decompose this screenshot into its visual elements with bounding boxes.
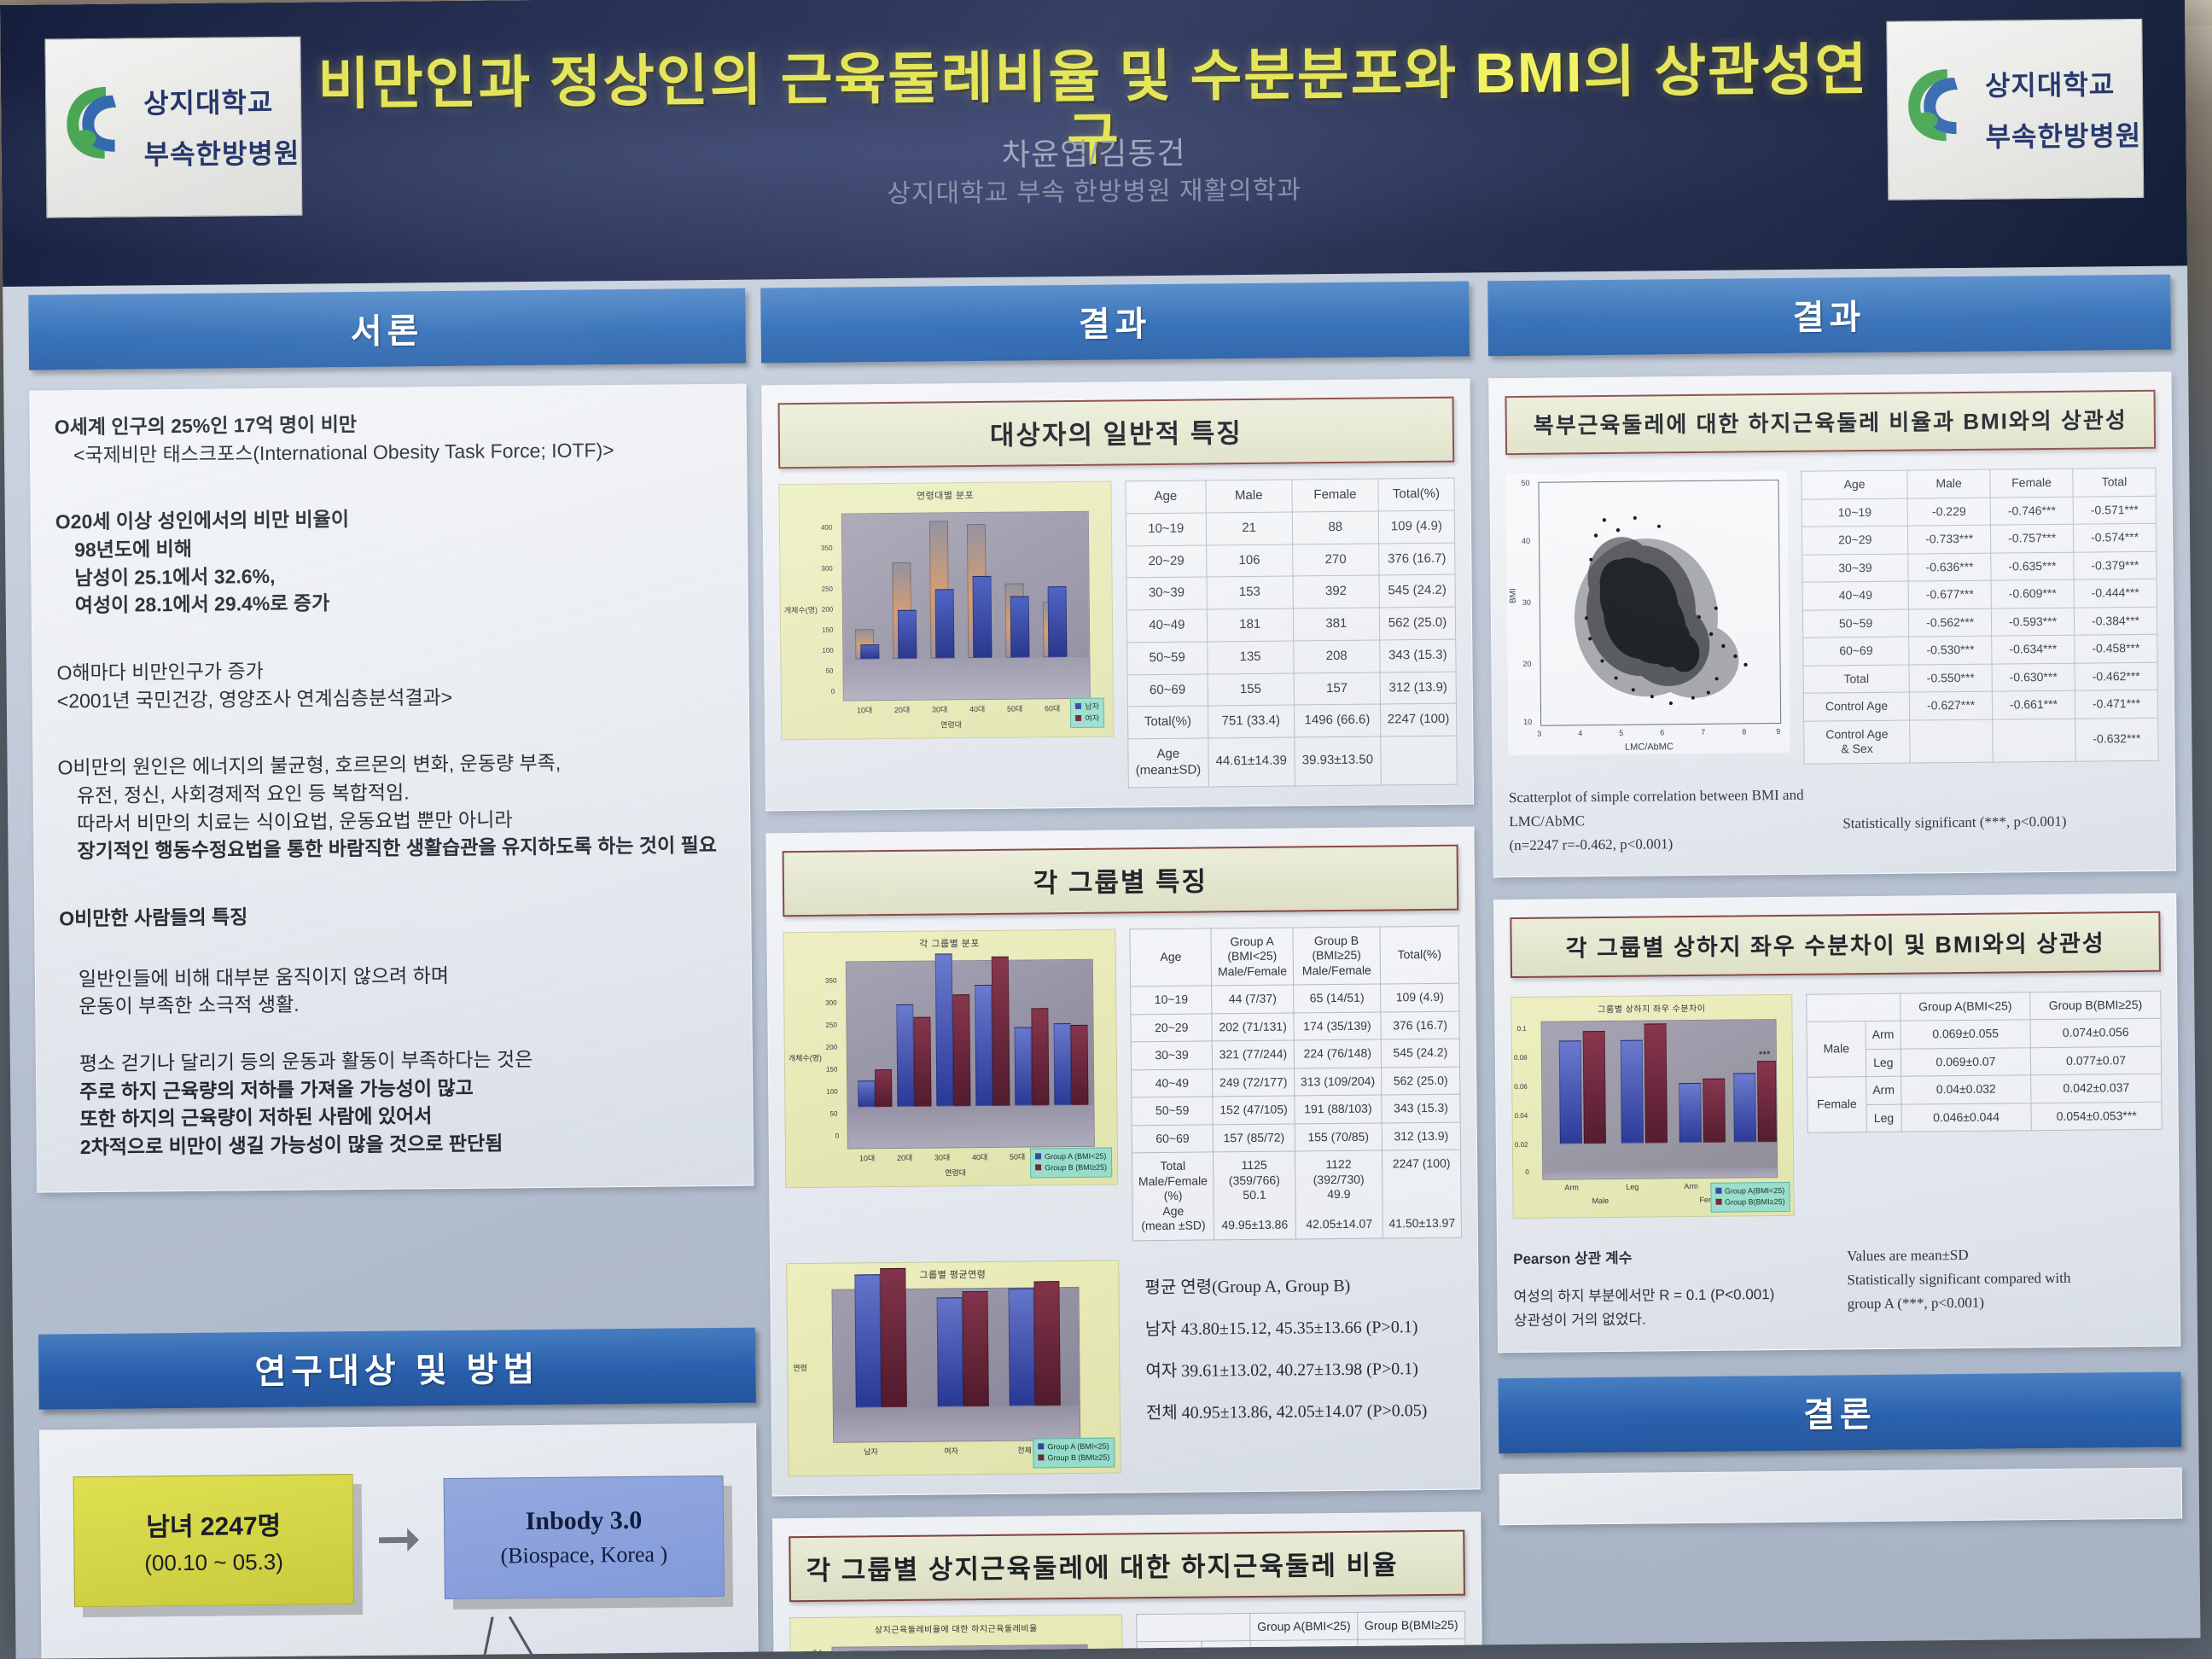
chart-title: 그룹별 평균연령 [787, 1266, 1118, 1283]
intro-text: <국제비만 태스크포스(International Obesity Task F… [55, 435, 722, 469]
cell: -0.634*** [1992, 635, 2075, 663]
col-header: Female [1990, 469, 2073, 497]
cell: 208 [1293, 640, 1379, 673]
col-header: Total(%) [1378, 478, 1454, 511]
section-title-intro: 서론 [28, 288, 746, 370]
intro-block: O세계 인구의 25%인 17억 명이 비만 <국제비만 태스크포스(Inter… [55, 407, 723, 469]
chart-plot-area [841, 511, 1091, 701]
sangji-logo-icon-2 [1898, 59, 1976, 162]
chart-title: 연령대별 분포 [779, 487, 1110, 504]
cell: 44.61±14.39 [1208, 737, 1295, 786]
chart-age-distribution: 연령대별 분포 개체수(명) 400 350 300 250 200 150 1… [778, 481, 1114, 741]
chart-ylabel: 개체수(명) [784, 604, 818, 615]
intro-block: O비만의 원인은 에너지의 불균형, 호르몬의 변화, 운동량 부족, 유전, … [57, 748, 725, 865]
intro-text: 2차적으로 비만이 생길 가능성이 많을 것으로 판단됨 [61, 1127, 729, 1161]
cell: 202 (71/131) [1212, 1013, 1294, 1041]
cell: 376 (16.7) [1381, 1011, 1459, 1039]
col-header: Group B (BMI≥25) Male/Female [1293, 927, 1381, 985]
cell: -0.593*** [1991, 608, 2074, 636]
col-header: Total [2073, 468, 2156, 496]
table-row: 30~39-0.636***-0.635***-0.379*** [1802, 551, 2157, 582]
cell [1910, 719, 1993, 763]
cell: -0.458*** [2075, 634, 2157, 662]
table-group-characteristics: Age Group A (BMI<25) Male/Female Group B… [1129, 925, 1461, 1241]
chart-water-difference: 그룹별 상하지 좌우 수분차이 0.1 0.08 0.06 0.04 0.02 … [1511, 994, 1794, 1219]
table-row: Total(%)751 (33.4)1496 (66.6)2247 (100) [1127, 703, 1456, 738]
cell: Total [1803, 665, 1909, 694]
chart-plot-area [1538, 480, 1781, 726]
column-middle: 결과 대상자의 일반적 특징 연령대별 분포 개체수(명) 400 350 30… [760, 281, 1484, 1658]
chart-mean-age: 그룹별 평균연령 연령 남자 여자 전체 Gro [786, 1260, 1121, 1476]
intro-block: O20세 이상 성인에서의 비만 비율이 98년도에 비해 남성이 25.1에서… [55, 502, 724, 620]
scatter-caption-line1: Scatterplot of simple correlation betwee… [1509, 783, 1825, 810]
col-header: Total(%) [1380, 926, 1459, 984]
cell: 312 (13.9) [1382, 1122, 1460, 1150]
cell: 562 (25.0) [1382, 1067, 1460, 1095]
chart-legend: Group A(BMI<25) Group B(BMI≥25) [1710, 1182, 1790, 1213]
row-group-label: Female [1807, 1077, 1867, 1133]
chart-group-distribution: 각 그룹별 분포 개체수(명) 350 300 250 200 150 100 … [783, 928, 1118, 1188]
row-group-label: Male [1807, 1022, 1866, 1078]
cell: 20~29 [1126, 544, 1207, 578]
cell: 2247 (100) 41.50±13.97 [1382, 1150, 1462, 1237]
chart-legend: Group A (BMI<25) Group B (BMI≥25) [1030, 1147, 1112, 1178]
table-row: 40~49181381562 (25.0) [1126, 607, 1455, 642]
legend-item: Group B (BMI≥25) [1047, 1453, 1109, 1463]
cell: -0.630*** [1992, 663, 2075, 691]
cell: 20~29 [1131, 1013, 1213, 1041]
cell: -0.636*** [1908, 553, 1991, 581]
table-row: Total-0.550***-0.630***-0.462*** [1803, 662, 2157, 693]
cell: 153 [1207, 576, 1293, 609]
mean-age-title: 평균 연령(Group A, Group B) [1144, 1270, 1462, 1298]
chart-title: 각 그룹별 분포 [784, 934, 1115, 952]
chart-plot-area: *** [1541, 1019, 1778, 1180]
chart-ylabel: BMI [1509, 588, 1518, 603]
table-header-row: Age Male Female Total(%) [1126, 478, 1454, 513]
table-row: 10~1944 (7/37)65 (14/51)109 (4.9) [1131, 983, 1459, 1014]
table-row: Control Age-0.627***-0.661***-0.471*** [1803, 690, 2157, 720]
cell: 392 [1293, 575, 1379, 608]
cell: Control Age & Sex [1804, 720, 1911, 764]
cell: 270 [1292, 544, 1378, 577]
table-row: 40~49249 (72/177)313 (109/204)562 (25.0) [1132, 1067, 1460, 1097]
cell: 174 (35/139) [1294, 1012, 1382, 1040]
result-heading-lmc-amc: 각 그룹별 상지근육둘레에 대한 하지근육둘레 비율 [789, 1529, 1465, 1602]
scatter-caption-row: Scatterplot of simple correlation betwee… [1509, 779, 2160, 857]
cell: Leg [1866, 1104, 1901, 1132]
cell: 50~59 [1802, 609, 1908, 638]
cell: 88 [1292, 511, 1378, 544]
significance-note: Statistically significant (***, p<0.001) [1842, 779, 2160, 854]
cell: -0.384*** [2074, 607, 2157, 635]
logo-left-line1: 상지대학교 [143, 81, 300, 122]
cell: 39.93±13.50 [1295, 736, 1382, 785]
subject-period: (00.10 ~ 05.3) [96, 1548, 330, 1577]
poster-header: 상지대학교 부속한방병원 비만인과 정상인의 근육둘레비율 및 수분분포와 BM… [0, 0, 2187, 287]
mean-age-summary: 평균 연령(Group A, Group B) 남자 43.80±15.12, … [1132, 1256, 1464, 1441]
table-row: 30~39153392545 (24.2) [1126, 574, 1455, 609]
result-card-general: 대상자의 일반적 특징 연령대별 분포 개체수(명) 400 350 300 2… [761, 378, 1474, 810]
result-card-groups: 각 그룹별 특징 각 그룹별 분포 개체수(명) 350 300 250 200… [765, 826, 1480, 1496]
cell: 0.042±0.037 [2031, 1074, 2162, 1103]
pearson-line1: 여성의 하지 부분에서만 R = 0.1 (P<0.001) [1513, 1282, 1830, 1309]
cell: -0.574*** [2073, 523, 2156, 551]
cell: 135 [1207, 641, 1293, 674]
col-header: Age [1126, 480, 1206, 514]
logo-left-text: 상지대학교 부속한방병원 [143, 81, 300, 173]
cell: 1496 (66.6) [1294, 704, 1380, 737]
logo-left-line2: 부속한방병원 [143, 132, 300, 173]
cell: 381 [1293, 608, 1379, 641]
legend-item: Group A (BMI<25) [1047, 1441, 1109, 1451]
result-heading-general: 대상자의 일반적 특징 [778, 397, 1455, 469]
pearson-note: Pearson 상관 계수 여성의 하지 부분에서만 R = 0.1 (P<0.… [1513, 1244, 1831, 1333]
col-header: Male [1206, 480, 1292, 513]
table-row: Female Arm 0.04±0.032 0.042±0.037 [1807, 1074, 2162, 1104]
cell: 152 (47/105) [1213, 1096, 1295, 1124]
cell: -0.757*** [1991, 524, 2074, 552]
cell: 313 (109/204) [1294, 1068, 1382, 1096]
chart-plot-area [831, 1286, 1080, 1442]
col-header [1807, 993, 1901, 1022]
cell: 44 (7/37) [1212, 985, 1294, 1013]
cell: 109 (4.9) [1378, 510, 1454, 544]
chart-ylabel: 개체수(명) [789, 1051, 822, 1062]
cell: 2247 (100) [1380, 703, 1456, 736]
chart-scatter-bmi-lmc: BMI 50 40 30 20 10 [1505, 471, 1790, 755]
legend-item: 여자 [1085, 713, 1099, 722]
cell: 30~39 [1131, 1041, 1213, 1069]
result-heading-correlation: 복부근육둘레에 대한 하지근육둘레 비율과 BMI와의 상관성 [1505, 390, 2156, 455]
cell: 545 (24.2) [1381, 1039, 1459, 1067]
cell: -0.471*** [2075, 690, 2157, 718]
cell: 50~59 [1132, 1097, 1214, 1125]
cell: 0.069±0.055 [1901, 1020, 2031, 1049]
chart-legend: Group A (BMI<25) Group B (BMI≥25) [1033, 1437, 1115, 1468]
result-heading-water: 각 그룹별 상하지 좌우 수분차이 및 BMI와의 상관성 [1510, 911, 2161, 977]
mean-age-total: 전체 40.95±13.86, 42.05±14.07 (P>0.05) [1146, 1395, 1464, 1423]
chart-plot-area [846, 958, 1095, 1149]
chart-group-label: Male [1592, 1196, 1609, 1205]
cell: 249 (72/177) [1213, 1068, 1295, 1097]
cell: Total(%) [1127, 706, 1208, 739]
cell: 321 (77/244) [1213, 1040, 1295, 1068]
pearson-line2: 상관성이 거의 없었다. [1514, 1306, 1831, 1333]
cell: 224 (76/148) [1294, 1039, 1382, 1068]
university-logo-right: 상지대학교 부속한방병원 [1886, 19, 2144, 201]
logo-right-line2: 부속한방병원 [1985, 114, 2141, 155]
arrow-right-icon: ➞ [375, 1511, 422, 1567]
cell: 0.069±0.07 [1901, 1047, 2031, 1076]
cell: 40~49 [1126, 609, 1207, 643]
water-footnote-row: Pearson 상관 계수 여성의 하지 부분에서만 R = 0.1 (P<0.… [1513, 1241, 2164, 1332]
cell: Leg [1866, 1049, 1901, 1077]
cell: -0.635*** [1991, 552, 2074, 580]
cell: 0.054±0.053*** [2031, 1102, 2162, 1131]
scatter-caption-line2: LMC/AbMC [1509, 806, 1825, 834]
cell: -0.661*** [1992, 690, 2075, 719]
mean-age-male: 남자 43.80±15.12, 45.35±13.66 (P>0.1) [1145, 1312, 1463, 1340]
cell: -0.462*** [2075, 662, 2157, 690]
cell: 191 (88/103) [1295, 1095, 1382, 1123]
intro-text: 장기적인 행동수정요법을 통한 바람직한 생활습관을 유지하도록 하는 것이 필… [58, 831, 725, 865]
mean-age-female: 여자 39.61±13.02, 40.27±13.98 (P>0.1) [1145, 1353, 1463, 1382]
result-heading-groups: 각 그룹별 특징 [783, 844, 1459, 917]
cell: 60~69 [1132, 1124, 1214, 1152]
table-correlation: Age Male Female Total 10~19-0.229-0.746*… [1801, 468, 2158, 764]
cell: Age (mean±SD) [1128, 738, 1208, 787]
intro-text: <2001년 국민건강, 영양조사 연계심층분석결과> [57, 680, 725, 714]
cell: 343 (15.3) [1380, 639, 1456, 672]
cell [1993, 719, 2075, 762]
subject-box: 남녀 2247명 (00.10 ~ 05.3) [73, 1474, 355, 1607]
table-row: 20~29106270376 (16.7) [1126, 543, 1455, 578]
cell: 343 (15.3) [1382, 1094, 1460, 1122]
col-header: Group A (BMI<25) Male/Female [1211, 928, 1293, 986]
cell: -0.746*** [1990, 497, 2073, 525]
intro-block: O비만한 사람들의 특징 일반인들에 비해 대부분 움직이지 않으려 하며 운동… [59, 899, 729, 1161]
cell: -0.379*** [2074, 551, 2157, 579]
table-row: 40~49-0.677***-0.609***-0.444*** [1802, 579, 2157, 609]
table-row: 10~19-0.229-0.746***-0.571*** [1802, 496, 2156, 527]
subject-count: 남녀 2247명 [96, 1504, 331, 1544]
cell: 30~39 [1802, 554, 1908, 583]
cell: 0.046±0.044 [1901, 1103, 2032, 1132]
scatter-caption: Scatterplot of simple correlation betwee… [1509, 783, 1826, 858]
table-row: Age (mean±SD)44.61±14.3939.93±13.50 [1128, 736, 1458, 787]
cell: 1125 (359/766) 50.1 49.95±13.86 [1214, 1151, 1295, 1239]
cell: -0.229 [1907, 498, 1990, 526]
cell: -0.562*** [1909, 608, 1992, 637]
cell: 10~19 [1802, 498, 1907, 527]
cell: 106 [1206, 544, 1292, 577]
table-water-difference: Group A(BMI<25) Group B(BMI≥25) Male Arm… [1806, 990, 2163, 1132]
chart-title: 상지근육둘레비율에 대한 하지근육둘레비율 [790, 1620, 1121, 1636]
legend-item: Group A(BMI<25) [1725, 1186, 1784, 1196]
cell: 0.04±0.032 [1901, 1075, 2031, 1104]
methods-flow-branches [66, 1615, 715, 1659]
device-name: Inbody 3.0 [467, 1505, 701, 1537]
table-header-row: Age Group A (BMI<25) Male/Female Group B… [1130, 926, 1459, 987]
legend-item: 남자 [1085, 702, 1099, 711]
logo-right-line1: 상지대학교 [1985, 63, 2141, 104]
col-header: Male [1907, 469, 1990, 498]
table-header-row: Age Male Female Total [1802, 468, 2156, 498]
water-note-line2: Statistically significant compared with [1847, 1265, 2163, 1292]
table-header-row: Group A(BMI<25) Group B(BMI≥25) [1137, 1611, 1465, 1642]
col-header: Age [1130, 928, 1212, 986]
result-card-water: 각 그룹별 상하지 좌우 수분차이 및 BMI와의 상관성 그룹별 상하지 좌우… [1493, 893, 2180, 1353]
cell: 40~49 [1802, 581, 1908, 610]
water-significance-note: Values are mean±SD Statistically signifi… [1847, 1241, 2164, 1330]
cell: 157 (85/72) [1214, 1123, 1295, 1151]
cell: 545 (24.2) [1379, 574, 1455, 608]
legend-item: Group B(BMI≥25) [1725, 1197, 1785, 1207]
section-title-results-right: 결과 [1487, 275, 2171, 357]
title-accent-bmi: BMI [1475, 40, 1584, 104]
cell: -0.444*** [2074, 579, 2157, 607]
table-row: 60~69155157312 (13.9) [1127, 672, 1456, 707]
cell: 155 (70/85) [1295, 1123, 1382, 1151]
intro-text: 여성이 28.1에서 29.4%로 증가 [56, 585, 724, 620]
table-row: 50~59152 (47/105)191 (88/103)343 (15.3) [1132, 1094, 1460, 1125]
table-header-row: Group A(BMI<25) Group B(BMI≥25) [1807, 991, 2161, 1022]
table-row: Total Male/Female (%) Age (mean ±SD)1125… [1132, 1150, 1461, 1240]
cell [1381, 736, 1458, 784]
col-header [1137, 1613, 1251, 1642]
col-header: Group A(BMI<25) [1250, 1612, 1358, 1641]
cell: Control Age [1803, 692, 1909, 721]
cell: 0.074±0.056 [2030, 1018, 2161, 1047]
university-logo-left: 상지대학교 부속한방병원 [44, 37, 302, 218]
device-box: Inbody 3.0 (Biospace, Korea ) [443, 1475, 725, 1598]
chart-legend: 남자 여자 [1070, 698, 1104, 728]
cell: Arm [1866, 1076, 1901, 1104]
cell: Arm [1866, 1021, 1901, 1049]
cell: 751 (33.4) [1208, 705, 1294, 738]
intro-block: O해마다 비만인구가 증가 <2001년 국민건강, 영양조사 연계심층분석결과… [56, 653, 725, 715]
column-right: 결과 복부근육둘레에 대한 하지근육둘레 비율과 BMI와의 상관성 BMI 5… [1487, 275, 2182, 1525]
cell: -0.677*** [1908, 580, 1991, 608]
cell: 40~49 [1132, 1068, 1214, 1097]
section-title-methods: 연구대상 및 방법 [38, 1328, 756, 1410]
cell: 155 [1208, 672, 1294, 706]
pearson-title: Pearson 상관 계수 [1513, 1244, 1830, 1272]
section-title-conclusion: 결론 [1499, 1371, 2182, 1453]
cell: 60~69 [1127, 673, 1208, 707]
water-note-line1: Values are mean±SD [1847, 1241, 2163, 1268]
chart-ylabel: 연령 [793, 1361, 807, 1372]
column-left: 서론 O세계 인구의 25%인 17억 명이 비만 <국제비만 태스크포스(In… [28, 288, 760, 1659]
cell: 30~39 [1126, 577, 1207, 610]
cell: 20~29 [1802, 526, 1907, 555]
legend-item: Group A (BMI<25) [1045, 1151, 1106, 1161]
table-general-characteristics: Age Male Female Total(%) 10~192188109 (4… [1125, 478, 1457, 788]
table-row: 20~29202 (71/131)174 (35/139)376 (16.7) [1131, 1011, 1459, 1042]
cell: 50~59 [1127, 642, 1208, 675]
cell: 0.077±0.07 [2031, 1046, 2162, 1075]
chart-title: 그룹별 상하지 좌우 수분차이 [1511, 1000, 1791, 1016]
table-row: 60~69-0.530***-0.634***-0.458*** [1803, 634, 2157, 665]
title-part-1: 비만인과 정상인의 근육둘레비율 및 수분분포와 [317, 41, 1476, 115]
cell: -0.609*** [1991, 579, 2074, 608]
cell: 562 (25.0) [1379, 607, 1455, 640]
logo-right-text: 상지대학교 부속한방병원 [1985, 63, 2142, 155]
conclusion-panel [1499, 1467, 2183, 1525]
device-maker: (Biospace, Korea ) [467, 1541, 701, 1569]
cell: 21 [1206, 512, 1292, 545]
chart-xlabel: 연령대 [945, 1167, 966, 1178]
table-row: 50~59135208343 (15.3) [1127, 639, 1456, 674]
col-header: Female [1292, 479, 1378, 512]
cell: 312 (13.9) [1380, 672, 1456, 705]
cell: 1122 (392/730) 49.9 42.05±14.07 [1295, 1150, 1382, 1238]
cell: 157 [1294, 672, 1380, 706]
cell: 65 (14/51) [1293, 984, 1381, 1012]
cell: 60~69 [1803, 637, 1909, 666]
table-row: 60~69157 (85/72)155 (70/85)312 (13.9) [1132, 1122, 1460, 1153]
scatter-points [1539, 480, 1780, 725]
methods-flow-diagram: 남녀 2247명 (00.10 ~ 05.3) ➞ Inbody 3.0 (Bi… [64, 1447, 733, 1615]
research-poster: 상지대학교 부속한방병원 비만인과 정상인의 근육둘레비율 및 수분분포와 BM… [0, 0, 2200, 1659]
methods-panel: 남녀 2247명 (00.10 ~ 05.3) ➞ Inbody 3.0 (Bi… [39, 1423, 760, 1659]
scatter-caption-line3: (n=2247 r=-0.462, p<0.001) [1509, 830, 1825, 858]
col-header: Group A(BMI<25) [1900, 992, 2030, 1021]
cell: 376 (16.7) [1379, 543, 1455, 576]
water-note-line3: group A (***, p<0.001) [1848, 1289, 2164, 1316]
cell: 181 [1207, 608, 1293, 642]
table-row: Control Age & Sex-0.632*** [1804, 718, 2158, 764]
cell: 109 (4.9) [1381, 983, 1459, 1011]
chart-xlabel: LMC/AbMC [1508, 741, 1790, 754]
col-header: Age [1802, 470, 1907, 499]
cell: Total Male/Female (%) Age (mean ±SD) [1132, 1152, 1214, 1240]
sangji-logo-icon [56, 77, 134, 180]
col-header: Group B(BMI≥25) [2030, 991, 2161, 1020]
cell: 10~19 [1126, 513, 1206, 546]
table-row: Male Arm 0.069±0.055 0.074±0.056 [1807, 1018, 2161, 1049]
cell: -0.530*** [1909, 636, 1992, 664]
result-card-lmc-amc: 각 그룹별 상지근육둘레에 대한 하지근육둘레 비율 상지근육둘레비율에 대한 … [772, 1511, 1484, 1659]
cell: -0.550*** [1909, 664, 1992, 692]
legend-item: Group B (BMI≥25) [1045, 1163, 1107, 1173]
cell: -0.571*** [2073, 496, 2156, 524]
table-row: 30~39321 (77/244)224 (76/148)545 (24.2) [1131, 1039, 1459, 1069]
result-card-correlation: 복부근육둘레에 대한 하지근육둘레 비율과 BMI와의 상관성 BMI 50 4… [1488, 372, 2176, 877]
cell: 10~19 [1131, 986, 1213, 1014]
section-title-results-mid: 결과 [760, 281, 1470, 363]
chart-xlabel: 연령대 [940, 719, 962, 730]
intro-panel: O세계 인구의 25%인 17억 명이 비만 <국제비만 태스크포스(Inter… [29, 384, 754, 1193]
table-row: 10~192188109 (4.9) [1126, 510, 1454, 545]
table-row: 50~59-0.562***-0.593***-0.384*** [1802, 607, 2157, 637]
cell: -0.632*** [2075, 718, 2158, 761]
col-header: Group B(BMI≥25) [1358, 1611, 1465, 1640]
cell: -0.627*** [1909, 691, 1992, 719]
cell: -0.733*** [1908, 525, 1991, 553]
table-row: 20~29-0.733***-0.757***-0.574*** [1802, 523, 2156, 554]
